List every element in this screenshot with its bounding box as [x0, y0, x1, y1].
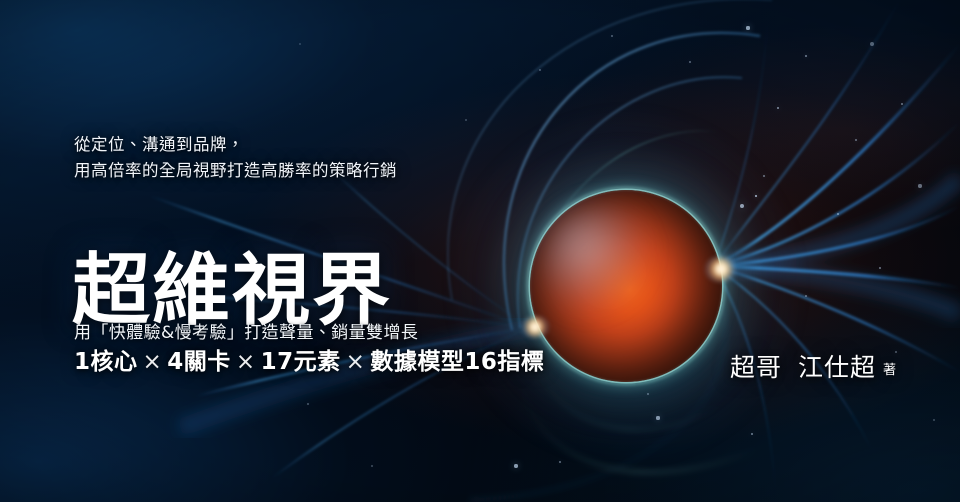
author-role-label: 著 [883, 363, 896, 378]
page-title: 超維視界 [72, 252, 392, 330]
cover-text-layer: 從定位、溝通到品牌， 用高倍率的全局視野打造高勝率的策略行銷 超維視界 用「快體… [0, 0, 960, 502]
formula-part-3: 17元素 [261, 349, 341, 375]
author-byline: 超哥江仕超著 [730, 348, 896, 384]
multiply-icon-1: × [138, 349, 168, 375]
author-real-name: 江仕超 [798, 353, 876, 382]
author-pen-name: 超哥 [730, 353, 782, 382]
formula-part-2: 4關卡 [167, 349, 231, 375]
multiply-icon-2: × [231, 349, 261, 375]
formula-part-4: 數據模型16指標 [370, 349, 544, 375]
cover-subtitle: 用「快體驗&慢考驗」打造聲量、銷量雙增長 [74, 325, 418, 342]
book-cover-banner: 從定位、溝通到品牌， 用高倍率的全局視野打造高勝率的策略行銷 超維視界 用「快體… [0, 0, 960, 502]
multiply-icon-3: × [341, 349, 371, 375]
formula-part-1: 1核心 [74, 349, 138, 375]
cover-formula: 1核心×4關卡×17元素×數據模型16指標 [74, 351, 544, 374]
cover-kicker: 從定位、溝通到品牌， 用高倍率的全局視野打造高勝率的策略行銷 [74, 132, 397, 183]
